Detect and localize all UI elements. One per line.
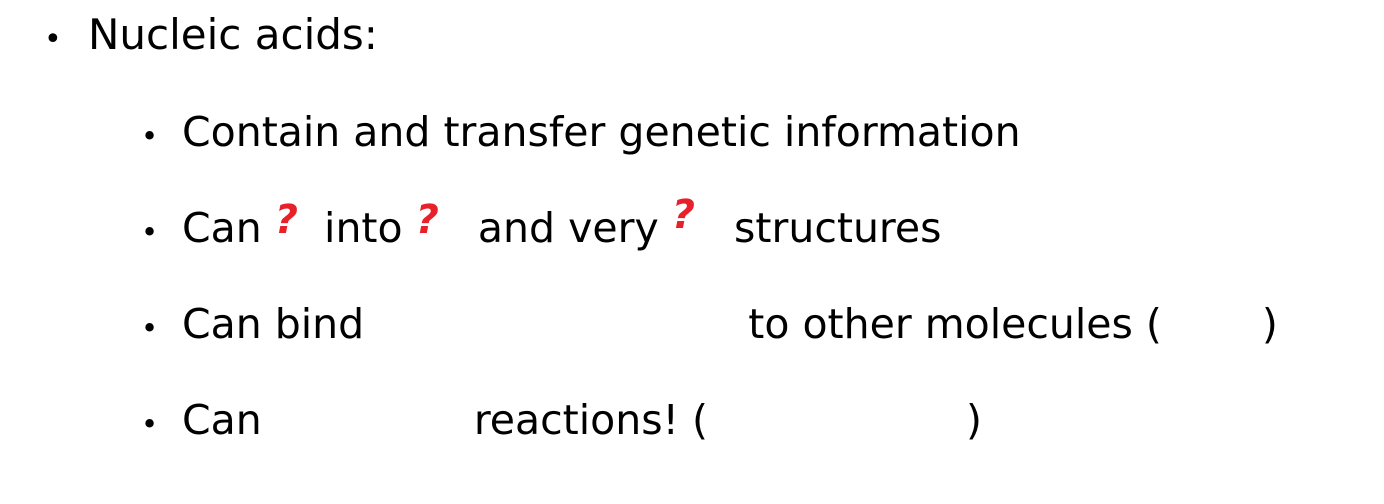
question-mark-icon-1: ? <box>275 192 298 248</box>
bullet-text-3-part-4: structures <box>695 200 942 256</box>
bullet-text-3-part-2: into <box>298 200 416 256</box>
bullet-text-4-part-1: Can bind <box>182 296 377 352</box>
bullet-text-4-part-2: to other molecules ( <box>735 296 1162 352</box>
bullet-text-4-part-3: ) <box>1262 296 1278 352</box>
bullet-marker-icon: • <box>141 396 182 452</box>
bullet-marker-icon: • <box>141 108 182 164</box>
bullet-text-3-part-1: Can <box>182 200 275 256</box>
question-mark-icon-3: ? <box>672 187 695 243</box>
bullet-text-2: Contain and transfer genetic information <box>182 104 1021 160</box>
bullet-marker-icon: • <box>141 300 182 356</box>
bullet-line-1: • Nucleic acids: <box>44 8 378 67</box>
bullet-marker-icon: • <box>141 204 182 260</box>
bullet-line-5: • Can reactions! ( ) <box>141 392 982 452</box>
bullet-text-1: Nucleic acids: <box>88 8 378 62</box>
slide-canvas: • Nucleic acids: • Contain and transfer … <box>0 0 1384 504</box>
bullet-text-3-part-3: and very <box>439 200 672 256</box>
bullet-text-5-part-2: reactions! ( <box>461 392 708 448</box>
bullet-line-3: • Can ? into ? and very ? structures <box>141 200 941 260</box>
bullet-text-5-part-3: ) <box>966 392 982 448</box>
bullet-text-5-part-1: Can <box>182 392 275 448</box>
bullet-marker-icon: • <box>44 13 88 67</box>
question-mark-icon-2: ? <box>416 192 439 248</box>
bullet-line-4: • Can bind to other molecules ( ) <box>141 296 1278 356</box>
bullet-line-2: • Contain and transfer genetic informati… <box>141 104 1021 164</box>
